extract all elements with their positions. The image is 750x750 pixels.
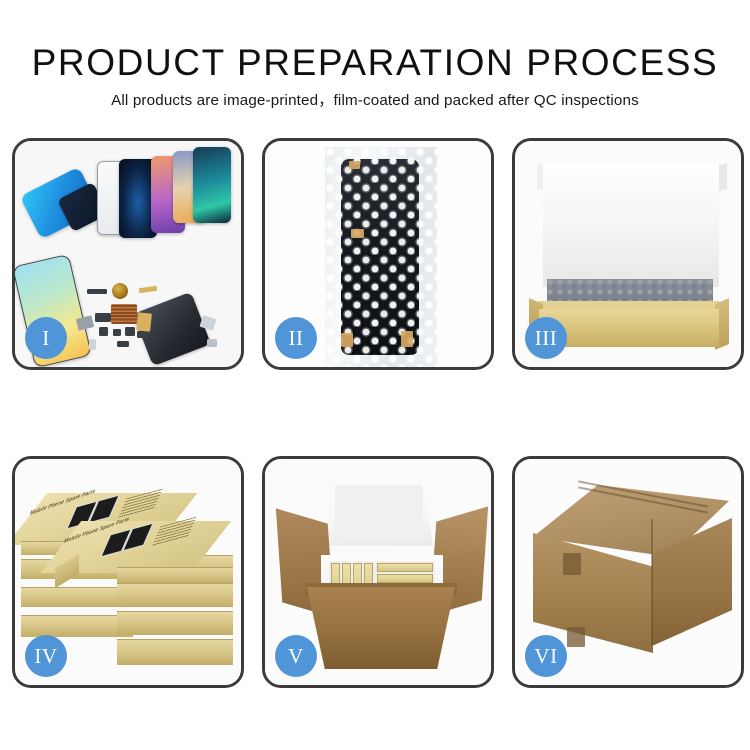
step-badge-4: IV: [25, 635, 67, 677]
white-foam-lid: [543, 163, 719, 287]
page-subtitle: All products are image-printed，film-coat…: [0, 88, 750, 110]
step-panel-4: Mobile Phone Spare Parts Mobile Phone Sp…: [12, 456, 244, 688]
flex-cable-part: [136, 312, 152, 331]
step-badge-2: II: [275, 317, 317, 359]
flex-cable-part: [139, 286, 158, 293]
small-screw-part: [207, 339, 217, 347]
step-panel-6: VI: [512, 456, 744, 688]
header: PRODUCT PREPARATION PROCESS All products…: [0, 0, 750, 130]
spare-part-chip: [117, 341, 129, 347]
step-panel-2: II: [262, 138, 494, 370]
spare-part-chip: [113, 329, 121, 336]
step-badge-3: III: [525, 317, 567, 359]
page-title: PRODUCT PREPARATION PROCESS: [0, 42, 750, 84]
spare-part-chip: [137, 331, 144, 338]
tape-piece: [401, 331, 413, 347]
packed-box: [377, 563, 433, 572]
carton-body: [307, 587, 455, 669]
spare-part-chip: [99, 327, 108, 336]
tape-piece: [349, 161, 360, 169]
step-panel-1: I: [12, 138, 244, 370]
product-preparation-infographic: PRODUCT PREPARATION PROCESS All products…: [0, 0, 750, 750]
carton-corner-edge: [651, 519, 653, 645]
speaker-coil-part: [112, 283, 128, 299]
spare-part-chip: [125, 327, 135, 336]
spare-part-chip: [95, 313, 111, 322]
spare-part-chip: [89, 339, 96, 350]
tape-piece: [341, 333, 353, 347]
step-badge-5: V: [275, 635, 317, 677]
step-panel-5: V: [262, 456, 494, 688]
phone-display-teal: [193, 147, 231, 223]
carton-flap-tab: [563, 553, 581, 575]
process-steps-grid: I II: [12, 138, 738, 738]
step-panel-3: III: [512, 138, 744, 370]
flex-cable-part: [76, 315, 94, 331]
spare-part-chip: [87, 289, 107, 294]
logic-board-part: [111, 304, 137, 324]
carton-flap-tab: [567, 627, 585, 647]
step-badge-6: VI: [525, 635, 567, 677]
step-badge-1: I: [25, 317, 67, 359]
packed-box: [377, 574, 433, 583]
styrofoam-lid-inner: [335, 485, 423, 539]
tape-piece: [351, 229, 364, 238]
